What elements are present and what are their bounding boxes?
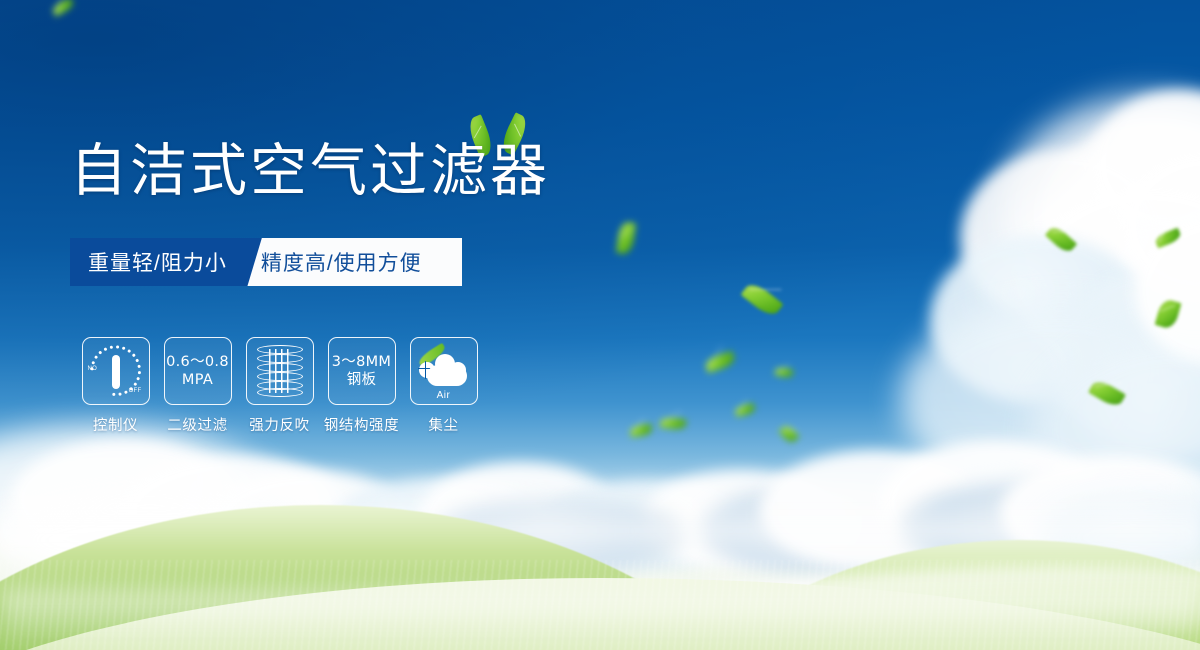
leaf-icon [779, 423, 800, 444]
feature-item-dust[interactable]: Air 集尘 [406, 337, 481, 435]
steel-value-line2: 钢板 [347, 371, 377, 389]
subtitle-right-segment: 精度高/使用方便 [231, 238, 462, 286]
gauge-needle [112, 355, 120, 389]
leaf-icon [774, 366, 793, 379]
coil-graphic [257, 345, 303, 397]
steel-value-line1: 3～8MM [332, 353, 391, 371]
feature-label: 二级过滤 [167, 414, 227, 435]
subtitle-bar: 重量轻/阻力小 精度高/使用方便 [70, 238, 462, 286]
leaf-icon [1045, 224, 1077, 255]
leaf-icon [51, 0, 75, 17]
page-title: 自洁式空气过滤器 [70, 143, 550, 200]
feature-label: 钢结构强度 [324, 414, 400, 435]
subtitle-left-segment: 重量轻/阻力小 [70, 238, 247, 286]
leaf-icon [1155, 298, 1182, 330]
steel-plate-text-icon: 3～8MM 钢板 [328, 337, 396, 405]
leaf-icon [659, 417, 686, 431]
leaf-icon [734, 403, 756, 417]
feature-label: 强力反吹 [249, 414, 309, 435]
feature-item-steel[interactable]: 3～8MM 钢板 钢结构强度 [324, 337, 399, 435]
air-label: Air [419, 390, 469, 401]
leaf-icon [616, 221, 636, 255]
gauge-dial-icon: NO OFF [82, 337, 150, 405]
coil-filter-icon [246, 337, 314, 405]
leaf-icon [704, 351, 737, 374]
leaf-icon [740, 280, 783, 320]
feature-item-pressure[interactable]: 0.6～0.8 MPA 二级过滤 [160, 337, 235, 435]
feature-label: 集尘 [428, 414, 458, 435]
leaf-icon [1154, 228, 1183, 249]
feature-item-controller[interactable]: NO OFF [78, 337, 153, 435]
gauge-graphic: NO OFF [88, 343, 144, 399]
grass-sheen [0, 590, 1200, 650]
pressure-value-line1: 0.6～0.8 [166, 353, 229, 371]
cloud-graphic: Air [419, 354, 469, 388]
air-cloud-icon: Air [410, 337, 478, 405]
pressure-value-line2: MPA [182, 371, 213, 389]
leaf-icon [629, 424, 652, 438]
feature-item-backblow[interactable]: 强力反吹 [242, 337, 317, 435]
banner-stage: 自洁式空气过滤器 重量轻/阻力小 精度高/使用方便 NO OFF [0, 0, 1200, 650]
leaf-icon [1088, 378, 1126, 410]
feature-list: NO OFF [78, 337, 481, 435]
feature-label: 控制仪 [93, 414, 138, 435]
pressure-text-icon: 0.6～0.8 MPA [164, 337, 232, 405]
